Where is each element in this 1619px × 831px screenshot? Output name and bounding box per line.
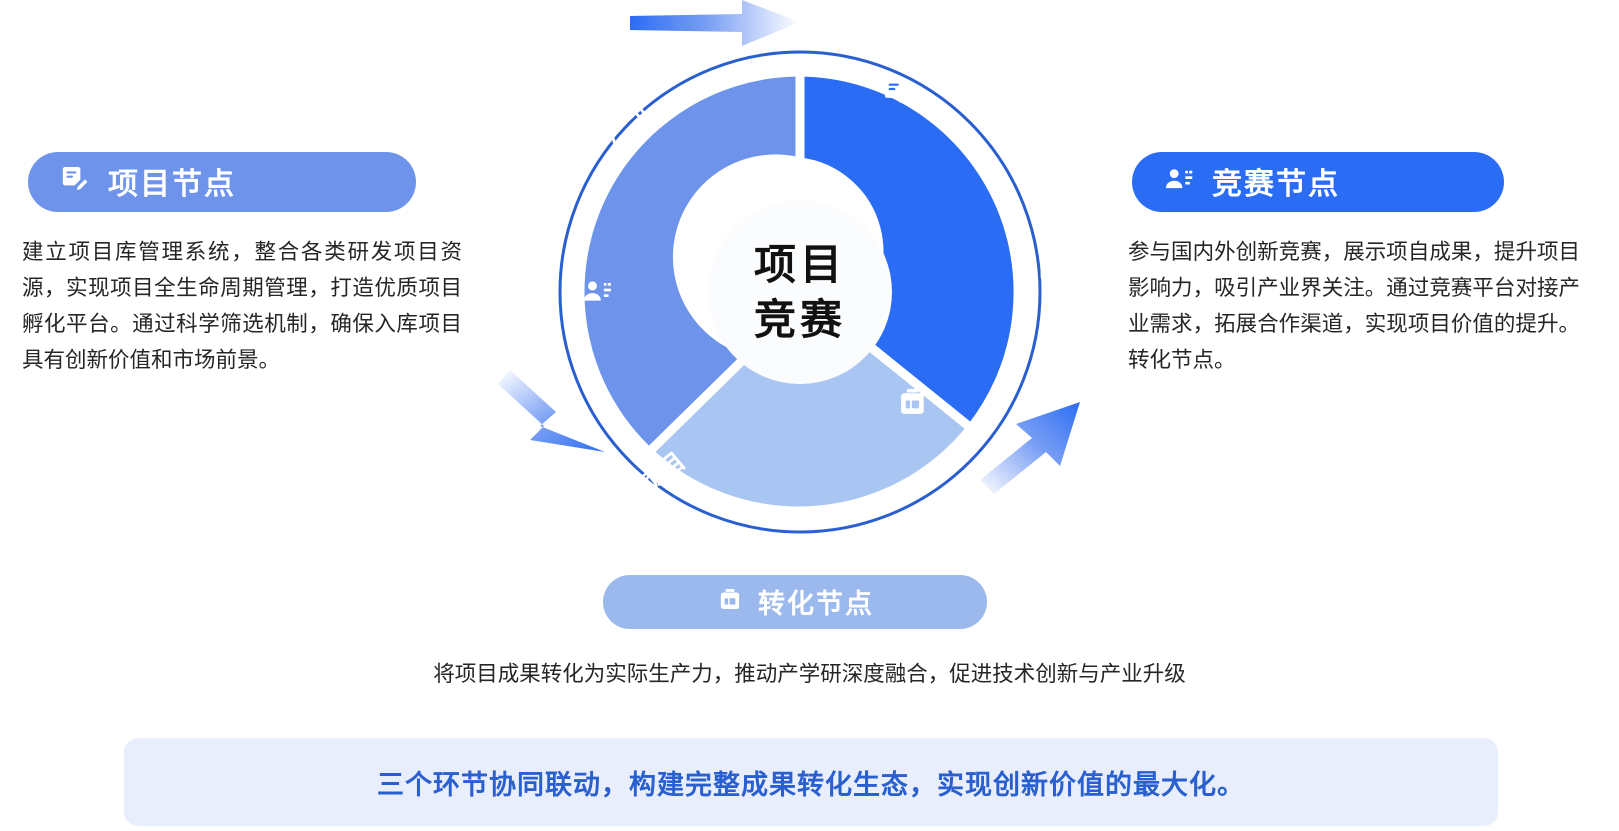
badge-competition-node[interactable]: 竞赛节点: [1132, 152, 1504, 212]
badge-transform-node[interactable]: 转化节点: [603, 575, 987, 629]
description-competition-node: 参与国内外创新竞赛，展示项自成果，提升项目影响力，吸引产业界关注。通过竞赛平台对…: [1128, 234, 1580, 378]
cycle-diagram: 转化 产业 项目: [470, 0, 1130, 564]
people-card-icon: [1162, 162, 1196, 201]
center-title-line1: 项目: [754, 241, 846, 288]
footer-summary-text: 三个环节协同联动，构建完整成果转化生态，实现创新价值的最大化。: [377, 763, 1245, 802]
description-project-node: 建立项目库管理系统，整合各类研发项目资源，实现项目全生命周期管理，打造优质项目孵…: [22, 234, 462, 378]
footer-banner: 三个环节协同联动，构建完整成果转化生态，实现创新价值的最大化。: [124, 738, 1498, 826]
center-disc: [708, 200, 892, 384]
center-title-line2: 竞赛: [754, 296, 846, 343]
badge-project-label: 项目节点: [108, 159, 236, 203]
briefcase-icon: [716, 585, 744, 618]
badge-project-node[interactable]: 项目节点: [28, 152, 416, 212]
arrow-right-icon: [980, 402, 1080, 494]
document-edit-icon: [58, 162, 92, 201]
arrow-top-icon: [630, 0, 800, 46]
description-transform-node: 将项目成果转化为实际生产力，推动产学研深度融合，促进技术创新与产业升级: [0, 657, 1619, 688]
badge-transform-label: 转化节点: [758, 582, 874, 621]
arrow-bottom-left-icon: [498, 370, 605, 452]
badge-competition-label: 竞赛节点: [1212, 159, 1340, 203]
segment-transform-label: 转化: [1037, 228, 1066, 284]
